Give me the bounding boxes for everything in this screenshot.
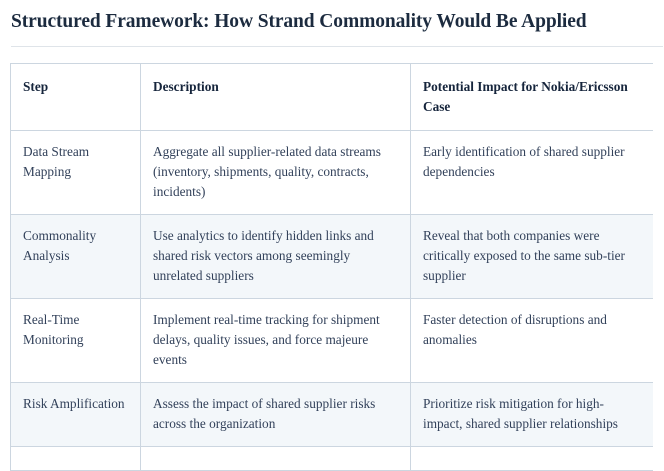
cell-impact: Prioritize risk mitigation for high-impa… xyxy=(411,383,654,447)
document-page: Structured Framework: How Strand Commona… xyxy=(0,0,664,443)
cell-description: Use analytics to identify hidden links a… xyxy=(141,215,411,299)
table-row: Commonality Analysis Use analytics to id… xyxy=(11,215,654,299)
cell-impact: Reveal that both companies were critical… xyxy=(411,215,654,299)
cell-step xyxy=(11,447,141,471)
table-header: Step Description Potential Impact for No… xyxy=(11,64,654,131)
cell-step: Real-Time Monitoring xyxy=(11,299,141,383)
cell-impact xyxy=(411,447,654,471)
table-row: Real-Time Monitoring Implement real-time… xyxy=(11,299,654,383)
table-header-row: Step Description Potential Impact for No… xyxy=(11,64,654,131)
framework-table-container: Step Description Potential Impact for No… xyxy=(10,63,653,471)
column-header-description: Description xyxy=(141,64,411,131)
column-header-step: Step xyxy=(11,64,141,131)
column-header-potential-impact: Potential Impact for Nokia/Ericsson Case xyxy=(411,64,654,131)
cell-step: Commonality Analysis xyxy=(11,215,141,299)
cell-description: Assess the impact of shared supplier ris… xyxy=(141,383,411,447)
framework-table: Step Description Potential Impact for No… xyxy=(10,63,653,471)
table-row: Data Stream Mapping Aggregate all suppli… xyxy=(11,131,654,215)
cell-impact: Early identification of shared supplier … xyxy=(411,131,654,215)
cell-step: Data Stream Mapping xyxy=(11,131,141,215)
cell-description: Aggregate all supplier-related data stre… xyxy=(141,131,411,215)
table-row-partial xyxy=(11,447,654,471)
title-divider xyxy=(11,46,663,47)
table-row: Risk Amplification Assess the impact of … xyxy=(11,383,654,447)
cell-step: Risk Amplification xyxy=(11,383,141,447)
cell-impact: Faster detection of disruptions and anom… xyxy=(411,299,654,383)
table-body: Data Stream Mapping Aggregate all suppli… xyxy=(11,131,654,471)
cell-description xyxy=(141,447,411,471)
cell-description: Implement real-time tracking for shipmen… xyxy=(141,299,411,383)
page-title: Structured Framework: How Strand Commona… xyxy=(10,0,611,36)
